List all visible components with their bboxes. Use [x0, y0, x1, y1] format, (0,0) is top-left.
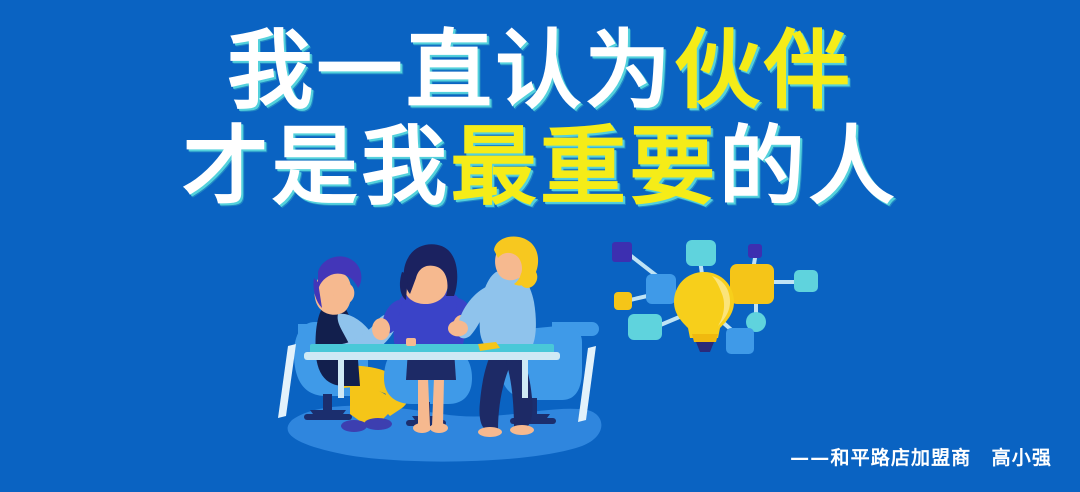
headline-line-2-white-segment-2: 的人 — [719, 116, 898, 217]
headline-line-2: 才是我最重要的人 — [0, 124, 1080, 210]
node-cyan-top — [686, 240, 716, 266]
node-cyan-right — [794, 270, 818, 292]
node-cyan-bottomleft — [628, 314, 662, 340]
network-svg — [600, 238, 826, 368]
node-purple-dot — [748, 244, 762, 258]
headline-line-2-white-segment-1: 才是我 — [182, 116, 450, 217]
person-standing-right — [448, 236, 538, 437]
attribution-text: ——和平路店加盟商 高小强 — [790, 443, 1052, 470]
lightbulb-icon — [674, 272, 734, 352]
shoe-left — [364, 418, 392, 430]
node-blue-left — [646, 274, 676, 304]
headline-line-2-yellow-segment: 最重要 — [451, 116, 719, 217]
table-prop-cup — [406, 338, 416, 346]
scene-illustration — [282, 238, 612, 468]
network-illustration — [600, 238, 826, 368]
shoe-right — [341, 420, 367, 432]
node-blue-bottom — [726, 328, 754, 354]
poster-canvas: 我一直认为伙伴 才是我最重要的人 — [0, 0, 1080, 492]
scene-svg — [282, 238, 612, 468]
headline-line-1: 我一直认为伙伴 — [0, 28, 1080, 114]
node-purple-topleft — [612, 242, 632, 262]
headline-line-1-yellow-segment: 伙伴 — [674, 20, 853, 121]
headline-line-1-white-segment: 我一直认为 — [227, 20, 674, 121]
node-yellow-left — [614, 292, 632, 310]
node-yellow-right — [730, 264, 774, 304]
